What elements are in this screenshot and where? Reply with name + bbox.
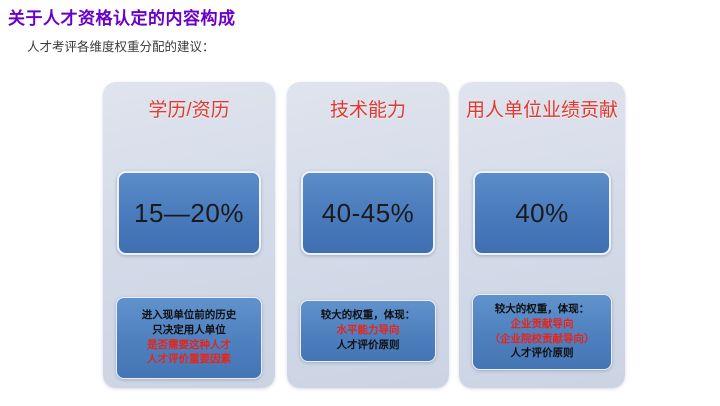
- note-line: 人才评价原则: [477, 346, 607, 361]
- card-technical-ability-header: 技术能力: [293, 98, 443, 123]
- card-education-note-box: 进入现单位前的历史 只决定用人单位 是否需要这种人才 人才评价重要因素: [116, 297, 262, 379]
- note-line: 是否需要这种人才: [121, 338, 257, 353]
- page-title: 关于人才资格认定的内容构成: [8, 4, 236, 29]
- note-line: 较大的权重，体现：: [305, 308, 431, 323]
- note-line: （企业院校贡献导向）: [477, 332, 607, 347]
- card-education-header: 学历/资历: [109, 98, 269, 123]
- card-technical-ability-value-box: 40-45%: [301, 171, 435, 255]
- note-line: 较大的权重，体现：: [477, 302, 607, 317]
- card-employer-contribution-header: 用人单位业绩贡献: [465, 98, 619, 123]
- note-line: 人才评价重要因素: [121, 352, 257, 367]
- card-education-value-box: 15—20%: [117, 171, 261, 255]
- note-line: 水平能力导向: [305, 323, 431, 338]
- card-technical-ability: 技术能力 40-45% 较大的权重，体现： 水平能力导向 人才评价原则: [287, 82, 449, 388]
- card-education-value: 15—20%: [134, 198, 244, 229]
- note-line: 只决定用人单位: [121, 323, 257, 338]
- note-line: 企业贡献导向: [477, 317, 607, 332]
- card-employer-contribution-value: 40%: [515, 198, 569, 229]
- card-technical-ability-note-box: 较大的权重，体现： 水平能力导向 人才评价原则: [300, 300, 436, 362]
- card-employer-contribution-note-box: 较大的权重，体现： 企业贡献导向 （企业院校贡献导向） 人才评价原则: [472, 294, 612, 370]
- note-line: 人才评价原则: [305, 338, 431, 353]
- card-education: 学历/资历 15—20% 进入现单位前的历史 只决定用人单位 是否需要这种人才 …: [103, 82, 275, 388]
- card-employer-contribution: 用人单位业绩贡献 40% 较大的权重，体现： 企业贡献导向 （企业院校贡献导向）…: [459, 82, 625, 388]
- weight-cards-row: 学历/资历 15—20% 进入现单位前的历史 只决定用人单位 是否需要这种人才 …: [0, 82, 720, 389]
- note-line: 进入现单位前的历史: [121, 308, 257, 323]
- card-employer-contribution-value-box: 40%: [473, 171, 611, 255]
- page-subtitle: 人才考评各维度权重分配的建议：: [27, 36, 215, 55]
- card-technical-ability-value: 40-45%: [322, 198, 415, 229]
